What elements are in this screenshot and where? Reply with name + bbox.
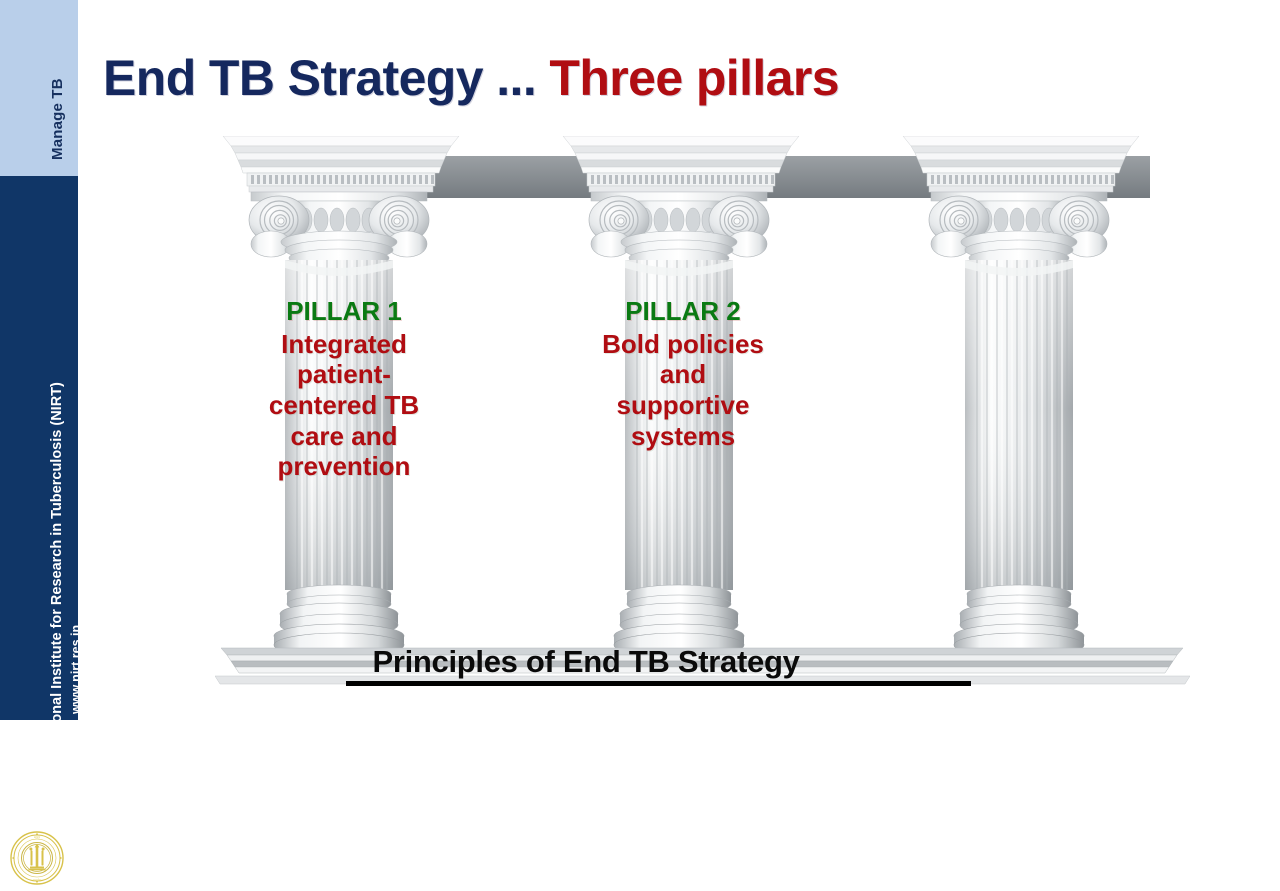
- pillar-2-body-line: Bold policies: [577, 329, 789, 360]
- column-3: [929, 192, 1109, 657]
- sidebar-org-block: ICMR - National Institute for Research i…: [0, 362, 78, 812]
- pillar-1-heading: PILLAR 1: [238, 296, 450, 327]
- sidebar-org-name: ICMR - National Institute for Research i…: [50, 382, 65, 800]
- pillar-1-body-line: patient-: [238, 359, 450, 390]
- pillar-1-body-line: Integrated: [238, 329, 450, 360]
- pillar-2-body: Bold policies and supportive systems: [577, 329, 789, 452]
- sidebar-top-band: Manage TB: [0, 0, 78, 176]
- sidebar-org-website: www.nirt.res.in: [70, 625, 83, 714]
- sidebar-bottom-band: ICMR - National Institute for Research i…: [0, 176, 78, 720]
- pillar-2-body-line: and: [577, 359, 789, 390]
- pillar-2-body-line: supportive: [577, 390, 789, 421]
- slide-canvas: Manage TB ICMR - National Institute for …: [0, 0, 1280, 720]
- pillar-2-body-line: systems: [577, 421, 789, 452]
- slide-title: End TB Strategy ... Three pillars: [103, 52, 839, 105]
- slide-title-accent: Three pillars: [549, 50, 839, 106]
- sidebar: Manage TB ICMR - National Institute for …: [0, 0, 78, 720]
- pillar-2-label: PILLAR 2 Bold policies and supportive sy…: [577, 296, 789, 451]
- icmr-seal-icon: भारत सत्यमेव: [9, 830, 65, 886]
- pillar-1-body: Integrated patient- centered TB care and…: [238, 329, 450, 482]
- pillar-2-heading: PILLAR 2: [577, 296, 789, 327]
- pillar-1-body-line: care and: [238, 421, 450, 452]
- pillar-1-label: PILLAR 1 Integrated patient- centered TB…: [238, 296, 450, 482]
- slide-caption-underline: [346, 681, 971, 686]
- pillar-1-body-line: prevention: [238, 451, 450, 482]
- slide-title-main: End TB Strategy ...: [103, 50, 536, 106]
- sidebar-section-label: Manage TB: [50, 78, 65, 160]
- pillar-1-body-line: centered TB: [238, 390, 450, 421]
- slide-caption: Principles of End TB Strategy: [206, 644, 966, 680]
